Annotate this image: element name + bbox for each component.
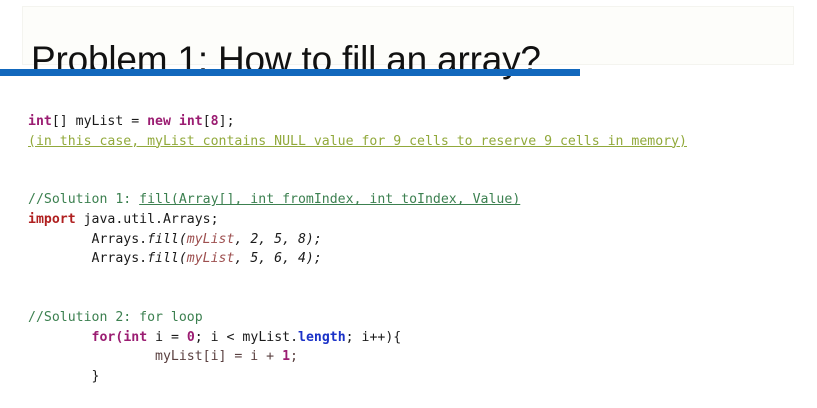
code-token: fill( <box>147 251 187 266</box>
code-token: (in this case, myList contains NULL valu… <box>28 134 687 149</box>
code-token: i = <box>147 330 187 345</box>
code-line-import: import java.util.Arrays; <box>0 210 817 230</box>
code-token: java.util.Arrays; <box>76 212 219 227</box>
code-token: , 2, 5, 8); <box>234 232 321 247</box>
code-token: ; <box>290 349 298 364</box>
code-token <box>28 330 92 345</box>
code-token: for <box>92 330 116 345</box>
code-line-solution-1-header: //Solution 1: fill(Array[], int fromInde… <box>0 190 817 210</box>
code-token: length <box>298 330 346 345</box>
code-line-solution-2-header: //Solution 2: for loop <box>0 308 817 328</box>
code-token: 0 <box>187 330 195 345</box>
code-line-decl: int[] myList = new int[8]; <box>0 112 817 132</box>
code-token: myList <box>187 232 235 247</box>
code-token: 1 <box>282 349 290 364</box>
code-line-close-brace: } <box>0 367 817 387</box>
code-token: ; i++){ <box>346 330 402 345</box>
code-token: [] myList = <box>52 114 147 129</box>
code-line-blank-2 <box>0 171 817 191</box>
code-token: Arrays. <box>28 251 147 266</box>
code-token: myList[i] = i + <box>28 349 282 364</box>
code-token: [ <box>203 114 211 129</box>
code-token: int <box>179 114 203 129</box>
code-line-fill-call-1: Arrays.fill(myList, 2, 5, 8); <box>0 230 817 250</box>
code-token: //Solution 2: for loop <box>28 310 203 325</box>
code-line-fill-call-2: Arrays.fill(myList, 5, 6, 4); <box>0 249 817 269</box>
code-token: } <box>28 369 99 384</box>
title-accent-rule <box>0 69 580 76</box>
slide-header: Problem 1: How to fill an array? <box>0 0 817 80</box>
code-line-blank-4 <box>0 288 817 308</box>
code-line-assign: myList[i] = i + 1; <box>0 347 817 367</box>
code-token: Arrays. <box>28 232 147 247</box>
code-token: import <box>28 212 76 227</box>
code-token <box>171 114 179 129</box>
code-token: int <box>28 114 52 129</box>
code-token: //Solution 1: <box>28 192 139 207</box>
code-line-for-loop: for(int i = 0; i < myList.length; i++){ <box>0 328 817 348</box>
code-line-note: (in this case, myList contains NULL valu… <box>0 132 817 152</box>
code-token: fill( <box>147 232 187 247</box>
code-token: 8 <box>211 114 219 129</box>
code-token: myList <box>187 251 235 266</box>
code-block: int[] myList = new int[8];(in this case,… <box>0 112 817 386</box>
code-token: ; i < myList. <box>195 330 298 345</box>
code-line-blank-1 <box>0 151 817 171</box>
code-line-blank-3 <box>0 269 817 289</box>
code-token: new <box>147 114 171 129</box>
code-token: ]; <box>219 114 235 129</box>
code-token: int <box>123 330 147 345</box>
code-token: fill(Array[], int fromIndex, int toIndex… <box>139 192 520 207</box>
code-token: , 5, 6, 4); <box>234 251 321 266</box>
